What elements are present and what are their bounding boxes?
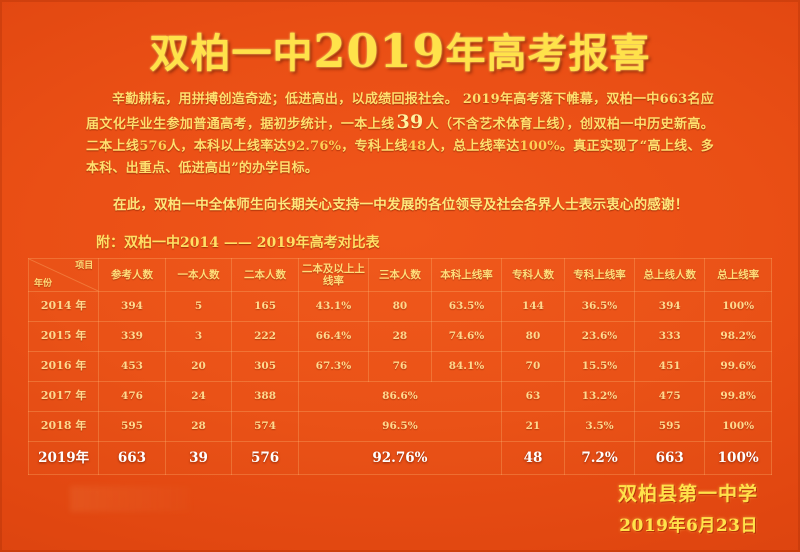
col-header-total: 总上线人数 [635,258,705,291]
cell-cankao: 453 [99,351,166,381]
cell-zhuanke-rate: 7.2% [564,441,634,474]
table-header-row: 项目 年份 参考人数 一本人数 二本人数 二本及以上上线率 三本人数 本科上线率… [29,258,772,291]
cell-total-rate: 99.6% [705,351,772,381]
cell-cankao: 394 [99,291,166,321]
table-body: 2014 年394516543.1%8063.5%14436.5%394100%… [29,291,772,474]
cell-yiben: 5 [165,291,232,321]
cell-zhuanke: 63 [502,381,565,411]
cell-zhuanke: 144 [502,291,565,321]
cell-total-rate: 100% [705,291,772,321]
cell-erben-rate: 67.3% [298,351,368,381]
row-year: 2018 年 [29,411,99,441]
cell-zhuanke-rate: 15.5% [564,351,634,381]
col-header-benke-rate: 本科上线率 [431,258,501,291]
cell-erben: 576 [232,441,299,474]
cell-zhuanke-rate: 23.6% [564,321,634,351]
cell-total: 451 [635,351,705,381]
col-header-zhuanke-rate: 专科上线率 [564,258,634,291]
cell-total-rate: 100% [705,441,772,474]
paragraph-main: 辛勤耕耘，用拼搏创造奇迹；低进高出，以成绩回报社会。 2019年高考落下帷幕，双… [86,89,714,180]
cell-erben: 222 [232,321,299,351]
para1-number-zhuanke: 48 [408,139,427,154]
table-row: 2019年6633957692.76%487.2%663100% [29,441,772,474]
cell-erben-rate: 43.1% [298,291,368,321]
col-header-total-rate: 总上线率 [705,258,772,291]
background-smudge [70,486,190,512]
corner-label-bottom: 年份 [34,278,52,290]
cell-total: 663 [635,441,705,474]
table-caption: 附：双柏一中2014 —— 2019年高考对比表 [96,232,800,252]
corner-label-top: 项目 [75,260,93,272]
title-suffix: 年高考报喜 [446,30,651,77]
cell-benke-rate: 74.6% [431,321,501,351]
cell-zhuanke-rate: 3.5% [564,411,634,441]
cell-total: 595 [635,411,705,441]
page-title: 双柏一中2019年高考报喜 [0,0,800,77]
para1-number-yiben: 39 [395,111,426,133]
row-year: 2014 年 [29,291,99,321]
cell-yiben: 28 [165,411,232,441]
cell-benke-rate: 84.1% [431,351,501,381]
cell-total: 475 [635,381,705,411]
para1-segment-4: ，专科上线 [341,139,408,154]
cell-merged-rate: 92.76% [298,441,501,474]
cell-zhuanke: 70 [502,351,565,381]
table-row: 2018 年5952857496.5%213.5%595100% [29,411,772,441]
col-header-erben-rate: 二本及以上上线率 [298,258,368,291]
row-year: 2015 年 [29,321,99,351]
paragraph-thanks: 在此，双柏一中全体师生向长期关心支持一中发展的各位领导及社会各界人士表示衷心的感… [86,194,714,216]
poster-background: 双柏一中2019年高考报喜 辛勤耕耘，用拼搏创造奇迹；低进高出，以成绩回报社会。… [0,0,800,552]
para1-segment-3: 人，本科以上线率达 [167,139,287,154]
cell-cankao: 595 [99,411,166,441]
cell-erben: 574 [232,411,299,441]
cell-zhuanke: 21 [502,411,565,441]
cell-sanben: 80 [369,291,432,321]
footer: 双柏县第一中学 2019年6月23日 [618,479,758,536]
footer-organization: 双柏县第一中学 [618,479,758,506]
cell-benke-rate: 63.5% [431,291,501,321]
cell-total: 394 [635,291,705,321]
row-year: 2016 年 [29,351,99,381]
col-header-zhuanke: 专科人数 [502,258,565,291]
cell-total-rate: 100% [705,411,772,441]
cell-total-rate: 98.2% [705,321,772,351]
cell-erben: 165 [232,291,299,321]
cell-cankao: 339 [99,321,166,351]
cell-erben: 305 [232,351,299,381]
col-header-sanben: 三本人数 [369,258,432,291]
footer-date: 2019年6月23日 [618,511,758,536]
table-header: 项目 年份 参考人数 一本人数 二本人数 二本及以上上线率 三本人数 本科上线率… [29,258,772,291]
para1-number-benke-rate: 92.76% [287,139,341,154]
title-prefix: 双柏一中 [149,30,313,77]
para1-number-erben: 576 [139,139,167,154]
table-row: 2015 年339322266.4%2874.6%8023.6%33398.2% [29,321,772,351]
table-row: 2017 年4762438886.6%6313.2%47599.8% [29,381,772,411]
cell-erben: 388 [232,381,299,411]
table-row: 2014 年394516543.1%8063.5%14436.5%394100% [29,291,772,321]
title-year: 2019 [313,24,445,78]
cell-zhuanke-rate: 13.2% [564,381,634,411]
poster-content: 双柏一中2019年高考报喜 辛勤耕耘，用拼搏创造奇迹；低进高出，以成绩回报社会。… [0,0,800,552]
cell-total-rate: 99.8% [705,381,772,411]
row-year: 2017 年 [29,381,99,411]
cell-merged-rate: 96.5% [298,411,501,441]
cell-erben-rate: 66.4% [298,321,368,351]
cell-yiben: 20 [165,351,232,381]
col-header-erben: 二本人数 [232,258,299,291]
col-header-yiben: 一本人数 [165,258,232,291]
row-year: 2019年 [29,441,99,474]
body-text: 辛勤耕耘，用拼搏创造奇迹；低进高出，以成绩回报社会。 2019年高考落下帷幕，双… [86,89,714,216]
para1-segment-5: 人，总上线率达 [426,139,519,154]
para1-number-total-rate: 100% [520,139,560,154]
cell-zhuanke: 48 [502,441,565,474]
comparison-table-area: 项目 年份 参考人数 一本人数 二本人数 二本及以上上线率 三本人数 本科上线率… [28,258,772,475]
table-corner-header: 项目 年份 [29,258,99,291]
table-row: 2016 年4532030567.3%7684.1%7015.5%45199.6… [29,351,772,381]
comparison-table: 项目 年份 参考人数 一本人数 二本人数 二本及以上上线率 三本人数 本科上线率… [28,258,772,475]
cell-merged-rate: 86.6% [298,381,501,411]
col-header-cankao: 参考人数 [99,258,166,291]
cell-yiben: 24 [165,381,232,411]
cell-sanben: 76 [369,351,432,381]
cell-total: 333 [635,321,705,351]
cell-yiben: 3 [165,321,232,351]
cell-cankao: 663 [99,441,166,474]
cell-cankao: 476 [99,381,166,411]
cell-yiben: 39 [165,441,232,474]
cell-zhuanke: 80 [502,321,565,351]
cell-sanben: 28 [369,321,432,351]
cell-zhuanke-rate: 36.5% [564,291,634,321]
